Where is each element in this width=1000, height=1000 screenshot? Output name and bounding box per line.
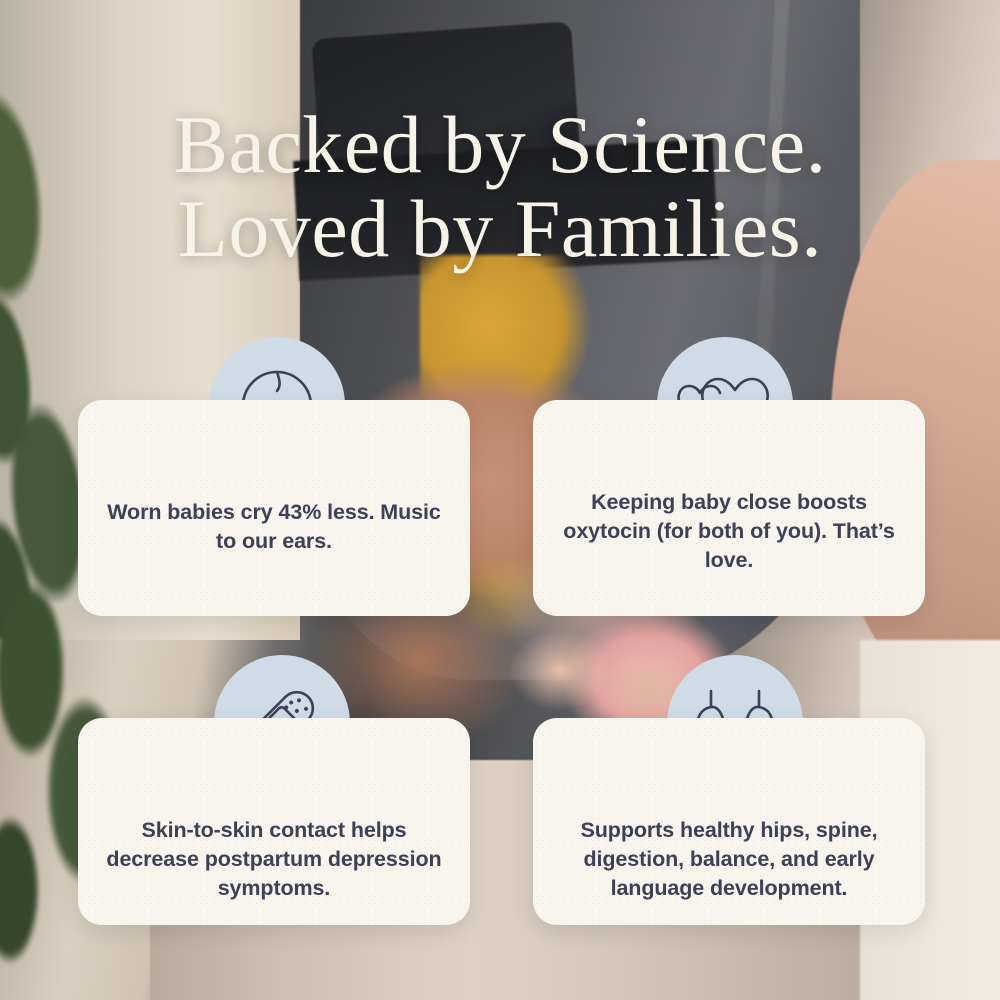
benefit-card: Worn babies cry 43% less. Music to our e… bbox=[78, 400, 470, 616]
benefit-card: Skin-to-skin contact helps decrease post… bbox=[78, 718, 470, 925]
benefit-card: Supports healthy hips, spine, digestion,… bbox=[533, 718, 925, 925]
benefit-card-text: Worn babies cry 43% less. Music to our e… bbox=[78, 498, 470, 556]
benefit-card-text: Keeping baby close boosts oxytocin (for … bbox=[533, 488, 925, 575]
page-title: Backed by Science. Loved by Families. bbox=[0, 103, 1000, 270]
promo-image: Backed by Science. Loved by Families. bbox=[0, 0, 1000, 1000]
benefit-card-text: Supports healthy hips, spine, digestion,… bbox=[533, 816, 925, 903]
headline-line-1: Backed by Science. bbox=[173, 99, 826, 190]
benefit-card: Keeping baby close boosts oxytocin (for … bbox=[533, 400, 925, 616]
headline-line-2: Loved by Families. bbox=[0, 187, 1000, 271]
benefit-card-text: Skin-to-skin contact helps decrease post… bbox=[78, 816, 470, 903]
